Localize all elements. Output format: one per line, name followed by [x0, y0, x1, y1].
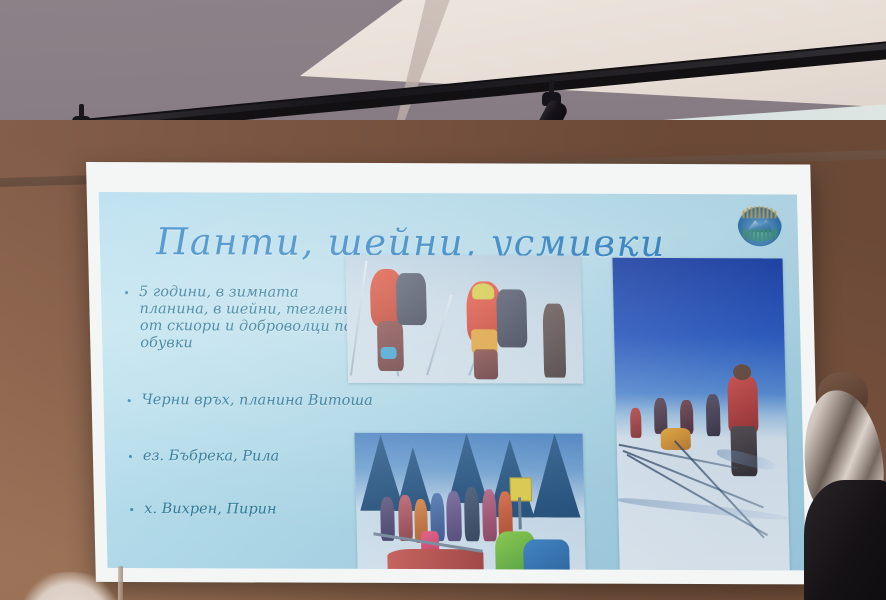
sled-with-person: [387, 549, 484, 570]
emblem-bottom-band: [743, 229, 777, 241]
slide-bullet-item: Черни връх, планина Витоша: [125, 392, 373, 410]
bullet-dot-icon: [130, 508, 133, 511]
skier-backpack: [396, 273, 427, 325]
skier-legs: [377, 321, 404, 371]
slide-bullet-item: 5 години, в зимната планина, в шейни, те…: [123, 284, 373, 353]
person-figure: [398, 495, 413, 541]
emblem-top-band: [742, 206, 776, 218]
person-figure: [446, 491, 462, 541]
bullet-dot-icon: [129, 455, 132, 458]
skier-figure: [542, 304, 566, 378]
person-figure: [630, 408, 642, 438]
bullet-text: 5 години, в зимната планина, в шейни, те…: [139, 284, 353, 351]
photo-group: [354, 433, 586, 571]
slide-bullet-item: х. Вихрен, Пирин: [128, 501, 376, 519]
pine-tree: [531, 433, 581, 517]
bullet-text: Черни връх, планина Витоша: [141, 393, 373, 410]
bullet-text: ез. Бъбрека, Рила: [143, 448, 280, 464]
slide-bullet-item: ез. Бъбрека, Рила: [127, 448, 375, 466]
bullet-dot-icon: [128, 399, 131, 402]
person-figure: [464, 487, 480, 541]
skier-legs: [474, 349, 499, 379]
person-figure: [523, 539, 570, 570]
bullet-text: х. Вихрен, Пирин: [144, 501, 277, 517]
skier-detail: [380, 347, 396, 359]
ski-pole: [426, 295, 452, 375]
organization-emblem-icon: [737, 202, 782, 246]
person-torso: [804, 480, 886, 600]
bullet-dot-icon: [125, 291, 128, 294]
skier-backpack: [496, 289, 527, 347]
photo-skiers: [345, 255, 583, 384]
projection-screen: Панти, шейни, усмивки 5 години, в зимнат…: [86, 162, 820, 584]
ski-pole: [350, 261, 367, 376]
foreground-pole: [118, 566, 123, 600]
photo-snowfield: [612, 258, 790, 571]
slide-bullet-list: 5 години, в зимната планина, в шейни, те…: [123, 284, 377, 545]
skier-goggles: [472, 283, 494, 299]
person-figure-foreground: [727, 376, 758, 432]
person-figure: [706, 394, 721, 436]
presentation-slide: Панти, шейни, усмивки 5 години, в зимнат…: [99, 192, 806, 570]
sled: [660, 428, 691, 450]
person-right-foreground: [788, 390, 886, 600]
person-figure: [482, 489, 497, 541]
person-head: [733, 364, 751, 380]
conference-room-photo: Панти, шейни, усмивки 5 години, в зимнат…: [0, 0, 886, 600]
